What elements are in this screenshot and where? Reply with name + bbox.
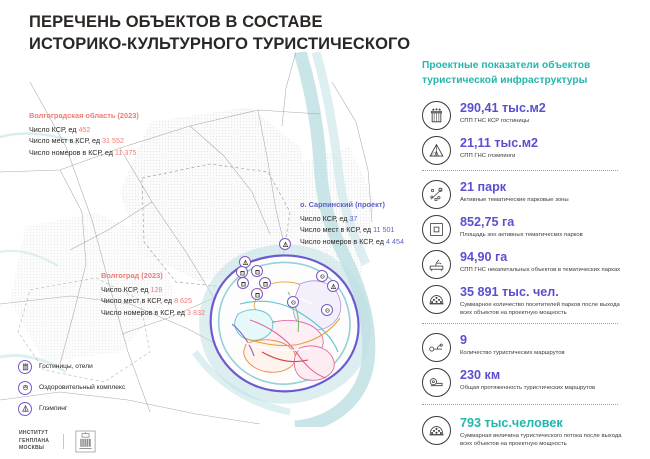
metric-row: 9 Количество туристических маршрутов bbox=[422, 332, 636, 362]
metric-body: 290,41 тыс.м2 СПП ГНС КСР гостиницы bbox=[460, 100, 546, 125]
footer-divider bbox=[63, 434, 64, 449]
callout-row: Число КСР, ед 128 bbox=[101, 284, 205, 296]
callout-row-value: 3 832 bbox=[187, 308, 205, 317]
callout-row: Число КСР, ед 452 bbox=[29, 124, 139, 136]
glamping-icon bbox=[18, 402, 32, 416]
callout-row: Число мест в КСР, ед 11 501 bbox=[300, 224, 404, 236]
metric-row: 35 891 тыс. чел. Суммарное количество по… bbox=[422, 284, 636, 318]
footer-line-1: ИНСТИТУТ bbox=[19, 430, 49, 438]
callout-title: о. Сарпинский (проект) bbox=[300, 200, 404, 209]
callout-row: Число мест в КСР, ед 8 625 bbox=[101, 295, 205, 307]
metric-value: 21,11 тыс.м2 bbox=[460, 136, 538, 150]
institute-emblem-icon bbox=[75, 430, 96, 453]
metric-value: 94,90 га bbox=[460, 250, 620, 264]
metric-caption: Количество туристических маршрутов bbox=[460, 349, 565, 358]
metric-group-routes: 9 Количество туристических маршрутов 230… bbox=[422, 332, 636, 397]
callout-row-value: 11 501 bbox=[373, 225, 394, 234]
callout-row-label: Число номеров в КСР, ед bbox=[300, 237, 384, 246]
callout-title: Волгоград (2023) bbox=[101, 271, 205, 280]
map-marker-hotel[interactable] bbox=[237, 277, 249, 289]
noncapital-icon bbox=[422, 250, 451, 279]
map-legend: Гостиницы, отели Оздоровительный комплек… bbox=[18, 358, 125, 421]
section-divider bbox=[422, 170, 618, 171]
metric-body: 35 891 тыс. чел. Суммарное количество по… bbox=[460, 284, 632, 318]
metric-row: 852,75 га Площадь зон активных тематичес… bbox=[422, 214, 636, 244]
callout-volgograd-oblast: Волгоградская область (2023) Число КСР, … bbox=[29, 111, 139, 158]
callout-row: Число номеров в КСР, ед 4 454 bbox=[300, 236, 404, 248]
callout-row: Число мест в КСР, ед 31 552 bbox=[29, 135, 139, 147]
callout-row-label: Число мест в КСР, ед bbox=[29, 136, 100, 145]
panel-heading: Проектные показатели объектов туристичес… bbox=[422, 58, 636, 88]
metric-caption: Активные тематические парковые зоны bbox=[460, 196, 569, 205]
metric-body: 21 парк Активные тематические парковые з… bbox=[460, 179, 569, 204]
metric-value: 793 тыс.человек bbox=[460, 416, 632, 430]
callout-row-value: 4 454 bbox=[386, 237, 404, 246]
metric-caption: Площадь зон активных тематических парков bbox=[460, 231, 583, 240]
metric-body: 94,90 га СПП ГНС некапитальных объектов … bbox=[460, 249, 620, 274]
callout-row-label: Число КСР, ед bbox=[29, 125, 76, 134]
callout-row-label: Число номеров в КСР, ед bbox=[101, 308, 185, 317]
metric-value: 290,41 тыс.м2 bbox=[460, 101, 546, 115]
footer-logo: ИНСТИТУТ ГЕНПЛАНА МОСКВЫ bbox=[19, 430, 96, 453]
callout-row-value: 8 625 bbox=[174, 296, 192, 305]
metric-body: 793 тыс.человек Суммарная величина турис… bbox=[460, 415, 632, 449]
legend-label: Гостиницы, отели bbox=[39, 363, 93, 370]
legend-item-wellness[interactable]: Оздоровительный комплекс bbox=[18, 379, 125, 396]
infographic-page: ПЕРЕЧЕНЬ ОБЪЕКТОВ В СОСТАВЕ ИСТОРИКО-КУЛ… bbox=[0, 0, 650, 459]
map-marker-glamping[interactable] bbox=[327, 280, 339, 292]
metric-caption: Общая протяженность туристических маршру… bbox=[460, 384, 595, 393]
map-marker-glamping[interactable] bbox=[279, 238, 291, 250]
metric-value: 35 891 тыс. чел. bbox=[460, 285, 632, 299]
map-marker-hotel[interactable] bbox=[251, 265, 263, 277]
legend-label: Оздоровительный комплекс bbox=[39, 384, 125, 391]
metric-body: 230 км Общая протяженность туристических… bbox=[460, 367, 595, 392]
metrics-panel: Проектные показатели объектов туристичес… bbox=[422, 58, 636, 454]
metric-body: 9 Количество туристических маршрутов bbox=[460, 332, 565, 357]
metric-row: 21 парк Активные тематические парковые з… bbox=[422, 179, 636, 209]
tourists-icon bbox=[422, 416, 451, 445]
metric-value: 9 bbox=[460, 333, 565, 347]
map-marker-wellness[interactable] bbox=[321, 304, 333, 316]
metric-group-accommodation: 290,41 тыс.м2 СПП ГНС КСР гостиницы 21,1… bbox=[422, 100, 636, 165]
callout-title: Волгоградская область (2023) bbox=[29, 111, 139, 120]
map-marker-hotel[interactable] bbox=[259, 277, 271, 289]
area-icon bbox=[422, 215, 451, 244]
legend-label: Глэмпинг bbox=[39, 405, 67, 412]
callout-row: Число КСР, ед 37 bbox=[300, 213, 404, 225]
callout-row-value: 452 bbox=[78, 125, 90, 134]
metric-value: 230 км bbox=[460, 368, 595, 382]
callout-row-value: 11 375 bbox=[115, 148, 136, 157]
metric-caption: СПП ГНС КСР гостиницы bbox=[460, 117, 546, 126]
footer-line-3: МОСКВЫ bbox=[19, 445, 49, 453]
metric-group-parks: 21 парк Активные тематические парковые з… bbox=[422, 179, 636, 318]
metric-value: 21 парк bbox=[460, 180, 569, 194]
callout-row-label: Число мест в КСР, ед bbox=[300, 225, 371, 234]
map-marker-wellness[interactable] bbox=[316, 270, 328, 282]
hotel-icon bbox=[18, 360, 32, 374]
footer-institute-name: ИНСТИТУТ ГЕНПЛАНА МОСКВЫ bbox=[19, 430, 49, 453]
metric-row: 230 км Общая протяженность туристических… bbox=[422, 367, 636, 397]
callout-row-label: Число КСР, ед bbox=[101, 285, 148, 294]
park-icon bbox=[422, 180, 451, 209]
section-divider bbox=[422, 323, 618, 324]
callout-row-value: 31 552 bbox=[102, 136, 124, 145]
callout-sarpinsky-island: о. Сарпинский (проект) Число КСР, ед 37 … bbox=[300, 200, 404, 247]
metric-caption: СПП ГНС некапитальных объектов в тематич… bbox=[460, 266, 620, 275]
legend-item-glamping[interactable]: Глэмпинг bbox=[18, 400, 125, 417]
callout-row-label: Число КСР, ед bbox=[300, 214, 347, 223]
metric-body: 21,11 тыс.м2 СПП ГНС глэмпинги bbox=[460, 135, 538, 160]
footer-line-2: ГЕНПЛАНА bbox=[19, 438, 49, 446]
callout-volgograd-city: Волгоград (2023) Число КСР, ед 128 Число… bbox=[101, 271, 205, 318]
metric-value: 852,75 га bbox=[460, 215, 583, 229]
legend-item-hotel[interactable]: Гостиницы, отели bbox=[18, 358, 125, 375]
callout-row-label: Число номеров в КСР, ед bbox=[29, 148, 113, 157]
callout-row-value: 128 bbox=[150, 285, 162, 294]
callout-row: Число номеров в КСР, ед 3 832 bbox=[101, 307, 205, 319]
callout-row-value: 37 bbox=[349, 214, 357, 223]
map-marker-hotel[interactable] bbox=[251, 288, 263, 300]
callout-row-label: Число мест в КСР, ед bbox=[101, 296, 172, 305]
metric-caption: Суммарное количество посетителей парков … bbox=[460, 301, 632, 318]
metric-caption: Суммарная величина туристического потока… bbox=[460, 432, 632, 449]
metric-body: 852,75 га Площадь зон активных тематичес… bbox=[460, 214, 583, 239]
wellness-icon bbox=[18, 381, 32, 395]
metric-row: 94,90 га СПП ГНС некапитальных объектов … bbox=[422, 249, 636, 279]
metric-row: 21,11 тыс.м2 СПП ГНС глэмпинги bbox=[422, 135, 636, 165]
hotel-icon bbox=[422, 101, 451, 130]
metric-row: 793 тыс.человек Суммарная величина турис… bbox=[422, 415, 636, 449]
map-marker-wellness[interactable] bbox=[287, 296, 299, 308]
metric-group-tourist-flow: 793 тыс.человек Суммарная величина турис… bbox=[422, 415, 636, 449]
distance-icon bbox=[422, 368, 451, 397]
section-divider bbox=[422, 404, 618, 405]
callout-row: Число номеров в КСР, ед 11 375 bbox=[29, 147, 139, 159]
route-icon bbox=[422, 333, 451, 362]
visitors-icon bbox=[422, 285, 451, 314]
glamping-icon bbox=[422, 136, 451, 165]
metric-caption: СПП ГНС глэмпинги bbox=[460, 152, 538, 161]
metric-row: 290,41 тыс.м2 СПП ГНС КСР гостиницы bbox=[422, 100, 636, 130]
